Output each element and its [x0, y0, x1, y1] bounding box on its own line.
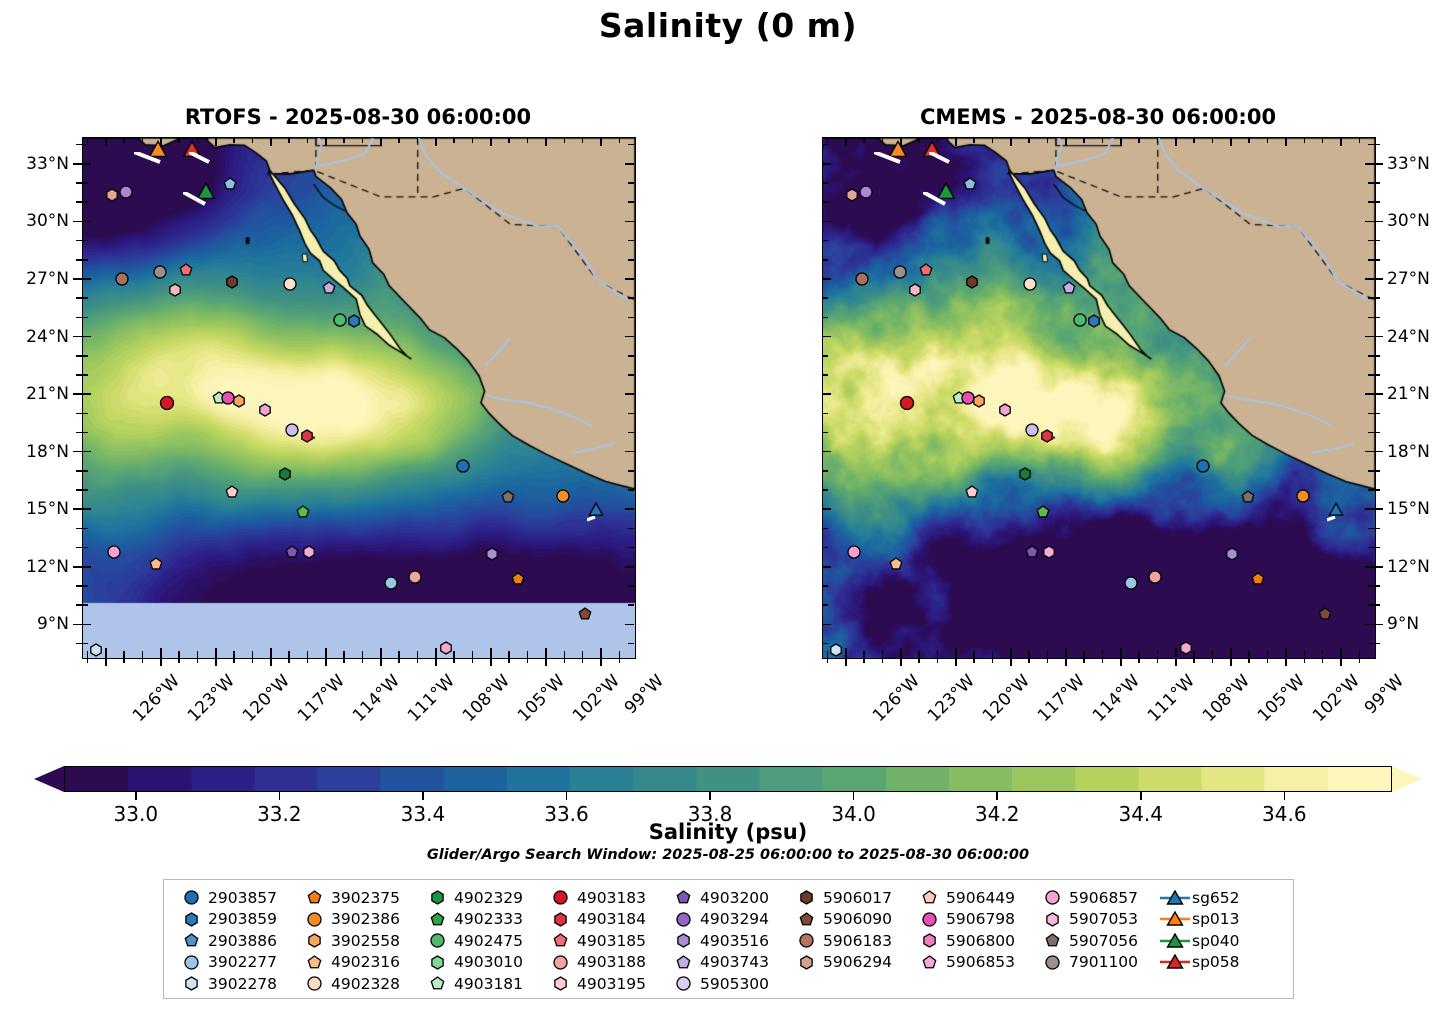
- marker-4902333[interactable]: [294, 503, 312, 521]
- lon-label: 102°W: [1309, 671, 1364, 726]
- hexagon-marker-icon: [543, 910, 577, 929]
- circle-marker-icon: [1035, 953, 1069, 972]
- marker-4903200[interactable]: [283, 543, 301, 561]
- legend-item-3902558[interactable]: 3902558: [297, 930, 420, 952]
- marker-4902316[interactable]: [147, 555, 165, 573]
- legend-item-4902328[interactable]: 4902328: [297, 973, 420, 995]
- lon-label: 111°W: [1144, 671, 1199, 726]
- lat-label: 9°N: [1387, 614, 1419, 634]
- glider-track-0: [874, 152, 934, 182]
- legend-column: 5906017590609059061835906294: [789, 887, 912, 995]
- lat-label: 9°N: [37, 614, 69, 634]
- legend-item-3902277[interactable]: 3902277: [174, 952, 297, 974]
- legend-item-label: 5906017: [823, 889, 892, 907]
- legend-item-5906853[interactable]: 5906853: [912, 952, 1035, 974]
- legend-item-label: 4902333: [454, 910, 523, 928]
- circle-marker-icon: [1035, 888, 1069, 907]
- lat-label: 24°N: [26, 327, 69, 347]
- legend-item-2903886[interactable]: 2903886: [174, 930, 297, 952]
- pentagon-marker-icon: [666, 888, 700, 907]
- lat-tick-outer: [73, 624, 82, 626]
- lon-label: 123°W: [184, 671, 239, 726]
- triangle-line-marker-icon: [1158, 932, 1192, 950]
- triangle-line-marker-icon: [1158, 889, 1192, 907]
- marker-4903294[interactable]: [117, 183, 135, 201]
- legend-item-4903195[interactable]: 4903195: [543, 973, 666, 995]
- legend-item-label: 4903185: [577, 932, 646, 950]
- marker-4903184[interactable]: [298, 427, 316, 445]
- legend-item-4903200[interactable]: 4903200: [666, 887, 789, 909]
- lat-tick-outer: [73, 163, 82, 165]
- legend-item-label: 3902386: [331, 910, 400, 928]
- hexagon-marker-icon: [1035, 910, 1069, 929]
- hexagon-marker-icon: [789, 888, 823, 907]
- legend-item-label: sg652: [1192, 889, 1240, 907]
- lat-label: 18°N: [1387, 442, 1430, 462]
- legend-item-label: 4903516: [700, 932, 769, 950]
- legend-item-4902333[interactable]: 4902333: [420, 909, 543, 931]
- colorbar-tick: [279, 792, 281, 800]
- legend-item-label: 5906853: [946, 953, 1015, 971]
- marker-5906294[interactable]: [1146, 568, 1164, 586]
- glider-track-0: [134, 152, 194, 182]
- marker-5906800[interactable]: [105, 543, 123, 561]
- marker-5906183[interactable]: [113, 270, 131, 288]
- marker-5906853[interactable]: [1040, 543, 1058, 561]
- colorbar-tick: [135, 792, 137, 800]
- legend-item-5906017[interactable]: 5906017: [789, 887, 912, 909]
- circle-marker-icon: [174, 953, 208, 972]
- marker-4902328[interactable]: [1021, 275, 1039, 293]
- pentagon-marker-icon: [666, 953, 700, 972]
- pentagon-marker-icon: [912, 953, 946, 972]
- lon-label: 108°W: [459, 671, 514, 726]
- lat-label: 18°N: [26, 442, 69, 462]
- lon-label: 120°W: [239, 671, 294, 726]
- glider-track-1: [929, 152, 989, 182]
- lat-label: 21°N: [26, 384, 69, 404]
- legend-item-2903857[interactable]: 2903857: [174, 887, 297, 909]
- legend-item-label: 4902475: [454, 932, 523, 950]
- marker-3902277[interactable]: [382, 574, 400, 592]
- marker-4903185[interactable]: [917, 261, 935, 279]
- circle-marker-icon: [420, 931, 454, 950]
- colorbar-tick: [709, 792, 711, 800]
- legend-item-4903185[interactable]: 4903185: [543, 930, 666, 952]
- circle-marker-icon: [297, 974, 331, 993]
- colorbar-label: Salinity (psu): [0, 820, 1456, 844]
- marker-3902277[interactable]: [1122, 574, 1140, 592]
- pentagon-marker-icon: [420, 910, 454, 929]
- circle-marker-icon: [666, 974, 700, 993]
- marker-4903188[interactable]: [906, 281, 924, 299]
- legend-item-4902316[interactable]: 4902316: [297, 952, 420, 974]
- legend-column: 49032004903294490351649037435905300: [666, 887, 789, 995]
- legend-item-4903188[interactable]: 4903188: [543, 952, 666, 974]
- legend-item-5905300[interactable]: 5905300: [666, 973, 789, 995]
- panel-cmems: CMEMS - 2025-08-30 06:00:00: [822, 137, 1374, 657]
- marker-5906449[interactable]: [1177, 639, 1195, 657]
- hexagon-marker-icon: [789, 953, 823, 972]
- legend-item-label: 2903859: [208, 910, 277, 928]
- legend-item-4903743[interactable]: 4903743: [666, 952, 789, 974]
- circle-marker-icon: [543, 888, 577, 907]
- legend-column: 29038572903859290388639022773902278: [174, 887, 297, 995]
- circle-marker-icon: [297, 910, 331, 929]
- legend-item-label: 4903183: [577, 889, 646, 907]
- legend-item-label: 7901100: [1069, 953, 1138, 971]
- legend-item-label: 5906798: [946, 910, 1015, 928]
- lon-label: 111°W: [404, 671, 459, 726]
- legend-item-4903184[interactable]: 4903184: [543, 909, 666, 931]
- lon-label: 126°W: [869, 671, 924, 726]
- legend-item-label: 3902277: [208, 953, 277, 971]
- marker-4902328[interactable]: [281, 275, 299, 293]
- panel-cmems-title: CMEMS - 2025-08-30 06:00:00: [822, 105, 1374, 129]
- colorbar-gradient: [64, 766, 1392, 792]
- marker-5906853[interactable]: [300, 543, 318, 561]
- legend-item-4903010[interactable]: 4903010: [420, 952, 543, 974]
- legend-column: 49031834903184490318549031884903195: [543, 887, 666, 995]
- legend-item-2903859[interactable]: 2903859: [174, 909, 297, 931]
- marker-4903743[interactable]: [1060, 279, 1078, 297]
- legend-item-label: 4903188: [577, 953, 646, 971]
- marker-4903294[interactable]: [857, 183, 875, 201]
- marker-4903188[interactable]: [166, 281, 184, 299]
- hexagon-marker-icon: [543, 974, 577, 993]
- lat-label: 15°N: [26, 499, 69, 519]
- legend-item-label: 2903886: [208, 932, 277, 950]
- lat-tick-outer: [73, 451, 82, 453]
- lon-label: 117°W: [1034, 671, 1089, 726]
- marker-3902558[interactable]: [970, 392, 988, 410]
- colorbar-tick: [996, 792, 998, 800]
- colorbar-tick: [1284, 792, 1286, 800]
- legend-item-label: 5906090: [823, 910, 892, 928]
- legend-item-5907056[interactable]: 5907056: [1035, 930, 1158, 952]
- legend-item-sp040[interactable]: sp040: [1158, 930, 1262, 952]
- legend-item-5906857[interactable]: 5906857: [1035, 887, 1158, 909]
- legend-item-label: 4903010: [454, 953, 523, 971]
- pentagon-marker-icon: [297, 953, 331, 972]
- lon-label: 99°W: [1361, 671, 1408, 718]
- legend-item-label: 5906294: [823, 953, 892, 971]
- marker-3902386[interactable]: [554, 487, 572, 505]
- circle-marker-icon: [912, 910, 946, 929]
- legend-column: 5906449590679859068005906853: [912, 887, 1035, 995]
- lat-tick-outer: [73, 508, 82, 510]
- legend-item-label: 5905300: [700, 975, 769, 993]
- lon-label: 114°W: [1089, 671, 1144, 726]
- legend-item-5907053[interactable]: 5907053: [1035, 909, 1158, 931]
- lat-label: 27°N: [26, 269, 69, 289]
- marker-5906017[interactable]: [963, 273, 981, 291]
- lon-label: 120°W: [979, 671, 1034, 726]
- lat-tick-outer: [73, 278, 82, 280]
- legend-item-7901100[interactable]: 7901100: [1035, 952, 1158, 974]
- marker-5906090[interactable]: [576, 605, 594, 623]
- marker-3902375[interactable]: [1249, 570, 1267, 588]
- marker-5907056[interactable]: [499, 488, 517, 506]
- pentagon-marker-icon: [420, 974, 454, 993]
- figure-title: Salinity (0 m): [0, 6, 1456, 45]
- circle-marker-icon: [174, 888, 208, 907]
- glider-track-2: [183, 192, 243, 222]
- legend-item-label: sp040: [1192, 932, 1240, 950]
- lon-label: 105°W: [514, 671, 569, 726]
- marker-3902375[interactable]: [509, 570, 527, 588]
- panel-rtofs: RTOFS - 2025-08-30 06:00:00: [82, 137, 634, 657]
- lat-label: 12°N: [26, 557, 69, 577]
- marker-5906017[interactable]: [223, 273, 241, 291]
- legend-item-label: 5906183: [823, 932, 892, 950]
- legend-item-label: 4903195: [577, 975, 646, 993]
- legend-item-sg652[interactable]: sg652: [1158, 887, 1262, 909]
- colorbar-tick: [566, 792, 568, 800]
- legend-item-label: 4903294: [700, 910, 769, 928]
- marker-4902333[interactable]: [1034, 503, 1052, 521]
- legend-item-sp013[interactable]: sp013: [1158, 909, 1262, 931]
- triangle-line-marker-icon: [1158, 953, 1192, 971]
- marker-4903184[interactable]: [1038, 427, 1056, 445]
- hexagon-marker-icon: [420, 888, 454, 907]
- legend-column: 39023753902386390255849023164902328: [297, 887, 420, 995]
- marker-4902316[interactable]: [887, 555, 905, 573]
- legend-item-label: sp058: [1192, 953, 1240, 971]
- marker-5906449[interactable]: [437, 639, 455, 657]
- legend-item-5906800[interactable]: 5906800: [912, 930, 1035, 952]
- marker-4903183[interactable]: [898, 393, 917, 412]
- legend-item-4903294[interactable]: 4903294: [666, 909, 789, 931]
- pentagon-marker-icon: [297, 888, 331, 907]
- pentagon-marker-icon: [174, 931, 208, 950]
- circle-marker-icon: [543, 953, 577, 972]
- lon-label: 105°W: [1254, 671, 1309, 726]
- marker-7901100[interactable]: [891, 263, 909, 281]
- legend-item-4903181[interactable]: 4903181: [420, 973, 543, 995]
- marker-7901100[interactable]: [151, 263, 169, 281]
- map-rtofs[interactable]: [82, 137, 636, 659]
- legend-item-label: 5907056: [1069, 932, 1138, 950]
- marker-4903010[interactable]: [963, 483, 981, 501]
- marker-2903859[interactable]: [345, 312, 363, 330]
- panel-rtofs-title: RTOFS - 2025-08-30 06:00:00: [82, 105, 634, 129]
- legend-item-label: 3902375: [331, 889, 400, 907]
- map-cmems[interactable]: [822, 137, 1376, 659]
- hexagon-marker-icon: [297, 931, 331, 950]
- legend-item-label: 5907053: [1069, 910, 1138, 928]
- legend-item-label: 5906800: [946, 932, 1015, 950]
- marker-4903516[interactable]: [483, 545, 501, 563]
- legend-item-label: sp013: [1192, 910, 1240, 928]
- legend-item-sp058[interactable]: sp058: [1158, 952, 1262, 974]
- legend-item-label: 5906857: [1069, 889, 1138, 907]
- hexagon-marker-icon: [174, 910, 208, 929]
- marker-3902386[interactable]: [1294, 487, 1312, 505]
- legend-item-label: 4902316: [331, 953, 400, 971]
- legend-grid: 2903857290385929038863902277390227839023…: [174, 887, 1262, 995]
- lon-label: 123°W: [924, 671, 979, 726]
- marker-5906857[interactable]: [256, 401, 274, 419]
- marker-5906090[interactable]: [1316, 605, 1334, 623]
- pentagon-marker-icon: [789, 910, 823, 929]
- lat-label: 15°N: [1387, 499, 1430, 519]
- glider-track-2: [923, 192, 983, 222]
- legend-item-5906449[interactable]: 5906449: [912, 887, 1035, 909]
- lat-label: 33°N: [1387, 154, 1430, 174]
- circle-marker-icon: [666, 910, 700, 929]
- lat-label: 12°N: [1387, 557, 1430, 577]
- pentagon-marker-icon: [543, 931, 577, 950]
- lat-label: 27°N: [1387, 269, 1430, 289]
- legend-item-4902329[interactable]: 4902329: [420, 887, 543, 909]
- hexagon-marker-icon: [420, 953, 454, 972]
- legend-item-label: 4903184: [577, 910, 646, 928]
- legend-item-4903183[interactable]: 4903183: [543, 887, 666, 909]
- marker-4903183[interactable]: [158, 393, 177, 412]
- hexagon-marker-icon: [174, 974, 208, 993]
- marker-4903516[interactable]: [1223, 545, 1241, 563]
- legend-item-label: 3902278: [208, 975, 277, 993]
- legend-item-label: 4903743: [700, 953, 769, 971]
- marker-2903857[interactable]: [454, 457, 472, 475]
- lon-label: 99°W: [621, 671, 668, 718]
- marker-5906857[interactable]: [996, 401, 1014, 419]
- legend-item-label: 3902558: [331, 932, 400, 950]
- platform-legend: 2903857290385929038863902277390227839023…: [163, 879, 1294, 999]
- legend-item-3902375[interactable]: 3902375: [297, 887, 420, 909]
- colorbar-tick: [422, 792, 424, 800]
- marker-5907056[interactable]: [1239, 488, 1257, 506]
- pentagon-marker-icon: [912, 888, 946, 907]
- marker-4903185[interactable]: [177, 261, 195, 279]
- glider-track-1: [189, 152, 249, 182]
- glider-track-sg652: [587, 516, 601, 526]
- lat-label: 30°N: [1387, 211, 1430, 231]
- lon-label: 102°W: [569, 671, 624, 726]
- lon-label: 114°W: [349, 671, 404, 726]
- marker-3902558[interactable]: [230, 392, 248, 410]
- lat-label: 33°N: [26, 154, 69, 174]
- hexagon-marker-icon: [912, 931, 946, 950]
- legend-item-label: 4902328: [331, 975, 400, 993]
- marker-3902278[interactable]: [827, 641, 845, 659]
- lat-label: 21°N: [1387, 384, 1430, 404]
- lat-tick-outer: [73, 221, 82, 223]
- legend-item-5906294[interactable]: 5906294: [789, 952, 912, 974]
- marker-4903200[interactable]: [1023, 543, 1041, 561]
- search-window-text: Glider/Argo Search Window: 2025-08-25 06…: [0, 847, 1456, 863]
- circle-marker-icon: [789, 931, 823, 950]
- lat-tick-outer: [73, 393, 82, 395]
- colorbar-tick: [1140, 792, 1142, 800]
- colorbar-tick: [853, 792, 855, 800]
- marker-4902329[interactable]: [276, 465, 294, 483]
- hexagon-marker-icon: [666, 931, 700, 950]
- legend-column: 5906857590705359070567901100: [1035, 887, 1158, 995]
- legend-item-4903516[interactable]: 4903516: [666, 930, 789, 952]
- legend-column: sg652sp013sp040sp058: [1158, 887, 1262, 995]
- colorbar-extend-high-icon: [1392, 766, 1422, 792]
- legend-item-3902278[interactable]: 3902278: [174, 973, 297, 995]
- legend-item-label: 2903857: [208, 889, 277, 907]
- marker-2903859[interactable]: [1085, 312, 1103, 330]
- pentagon-marker-icon: [1035, 931, 1069, 950]
- marker-2903857[interactable]: [1194, 457, 1212, 475]
- lon-label: 126°W: [129, 671, 184, 726]
- marker-3902278[interactable]: [87, 641, 105, 659]
- marker-5906800[interactable]: [845, 543, 863, 561]
- legend-item-3902386[interactable]: 3902386: [297, 909, 420, 931]
- legend-column: 49023294902333490247549030104903181: [420, 887, 543, 995]
- marker-5906183[interactable]: [853, 270, 871, 288]
- legend-item-label: 5906449: [946, 889, 1015, 907]
- marker-4903010[interactable]: [223, 483, 241, 501]
- legend-item-label: 4902329: [454, 889, 523, 907]
- glider-track-sg652: [1327, 516, 1341, 526]
- lat-label: 24°N: [1387, 327, 1430, 347]
- lat-tick-outer: [73, 566, 82, 568]
- colorbar-extend-low-icon: [34, 766, 64, 792]
- marker-4902329[interactable]: [1016, 465, 1034, 483]
- legend-item-label: 4903200: [700, 889, 769, 907]
- legend-item-label: 4903181: [454, 975, 523, 993]
- marker-4903743[interactable]: [320, 279, 338, 297]
- legend-item-5906090[interactable]: 5906090: [789, 909, 912, 931]
- legend-item-5906798[interactable]: 5906798: [912, 909, 1035, 931]
- lat-label: 30°N: [26, 211, 69, 231]
- legend-item-4902475[interactable]: 4902475: [420, 930, 543, 952]
- lon-label: 117°W: [294, 671, 349, 726]
- lon-label: 108°W: [1199, 671, 1254, 726]
- lat-tick-outer: [73, 336, 82, 338]
- legend-item-5906183[interactable]: 5906183: [789, 930, 912, 952]
- marker-5906294[interactable]: [406, 568, 424, 586]
- colorbar: 33.033.233.433.633.834.034.234.434.6: [34, 766, 1422, 792]
- triangle-line-marker-icon: [1158, 910, 1192, 928]
